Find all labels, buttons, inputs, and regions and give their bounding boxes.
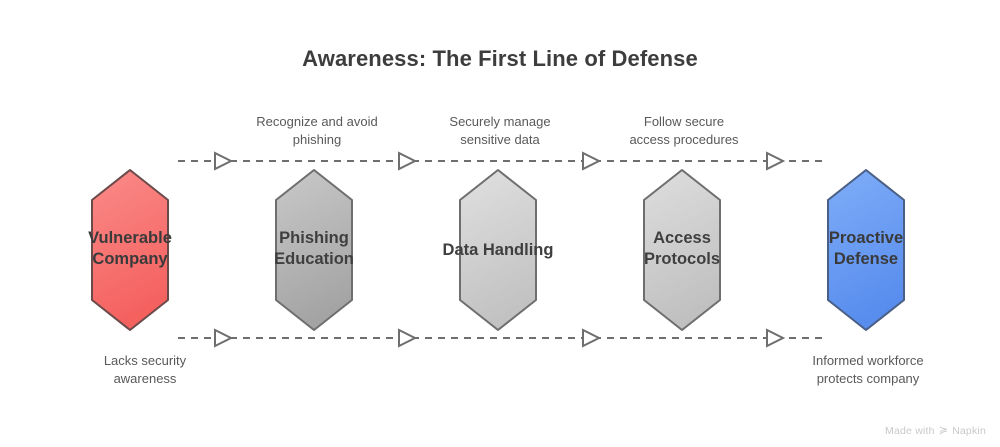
hexagon-phishing-education[interactable] xyxy=(276,170,352,330)
top-arrowhead-2 xyxy=(399,153,415,169)
hexagon-proactive-defense[interactable] xyxy=(828,170,904,330)
watermark-brand: Napkin xyxy=(952,425,986,437)
edge-label-line2: access procedures xyxy=(588,131,780,149)
edge-label-bottom-2: Informed workforce protects company xyxy=(768,352,968,387)
edge-label-line2: protects company xyxy=(768,370,968,388)
edge-label-line1: Recognize and avoid xyxy=(222,113,412,131)
diagram-canvas: Awareness: The First Line of Defense xyxy=(0,0,1000,447)
bottom-arrowhead-3 xyxy=(583,330,599,346)
page-title: Awareness: The First Line of Defense xyxy=(0,46,1000,72)
edge-label-top-2: Securely manage sensitive data xyxy=(406,113,594,148)
top-arrowhead-4 xyxy=(767,153,783,169)
edge-label-bottom-1: Lacks security awareness xyxy=(50,352,240,387)
napkin-logo-icon: ≽ xyxy=(939,424,948,437)
watermark: Made with ≽ Napkin xyxy=(885,424,986,437)
hexagon-vulnerable-company[interactable] xyxy=(92,170,168,330)
edge-label-line1: Informed workforce xyxy=(768,352,968,370)
edge-label-line2: phishing xyxy=(222,131,412,149)
hexagon-data-handling[interactable] xyxy=(460,170,536,330)
bottom-arrowhead-1 xyxy=(215,330,231,346)
top-arrowhead-3 xyxy=(583,153,599,169)
edge-label-top-1: Recognize and avoid phishing xyxy=(222,113,412,148)
edge-label-line1: Lacks security xyxy=(50,352,240,370)
edge-label-line2: awareness xyxy=(50,370,240,388)
edge-label-line1: Follow secure xyxy=(588,113,780,131)
edge-label-line2: sensitive data xyxy=(406,131,594,149)
bottom-arrowhead-4 xyxy=(767,330,783,346)
hexagon-access-protocols[interactable] xyxy=(644,170,720,330)
edge-label-line1: Securely manage xyxy=(406,113,594,131)
edge-label-top-3: Follow secure access procedures xyxy=(588,113,780,148)
top-arrowhead-1 xyxy=(215,153,231,169)
bottom-arrowhead-2 xyxy=(399,330,415,346)
watermark-prefix: Made with xyxy=(885,425,935,437)
